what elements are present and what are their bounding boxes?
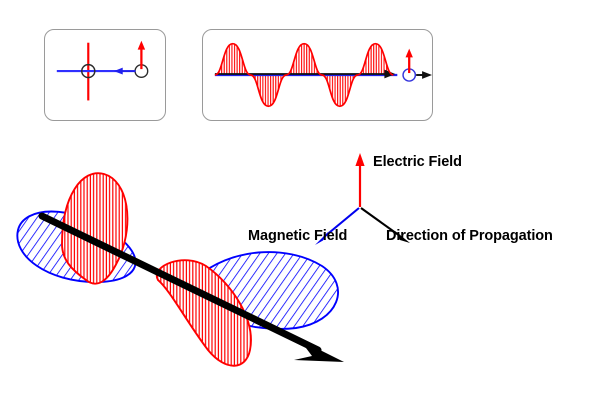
- cross-section-graphic: [45, 30, 165, 120]
- arrow-right-icon: [422, 71, 432, 79]
- sine-wave-graphic: [203, 30, 432, 120]
- arrow-up-icon: [138, 41, 145, 50]
- arrow-left-icon: [114, 68, 123, 75]
- electric-field-label: Electric Field: [373, 154, 462, 170]
- diagram-canvas: Electric Field Magnetic Field Direction …: [0, 0, 600, 403]
- direction-of-propagation-label: Direction of Propagation: [386, 228, 553, 244]
- em-wave-graphic: [0, 160, 380, 390]
- arrow-up-icon: [406, 49, 413, 58]
- transverse-cross-section-panel: [44, 29, 166, 121]
- propagation-marker: [114, 41, 148, 78]
- longitudinal-sine-wave-panel: [202, 29, 433, 121]
- electromagnetic-wave-3d: [0, 160, 380, 390]
- propagation-marker: [403, 49, 432, 81]
